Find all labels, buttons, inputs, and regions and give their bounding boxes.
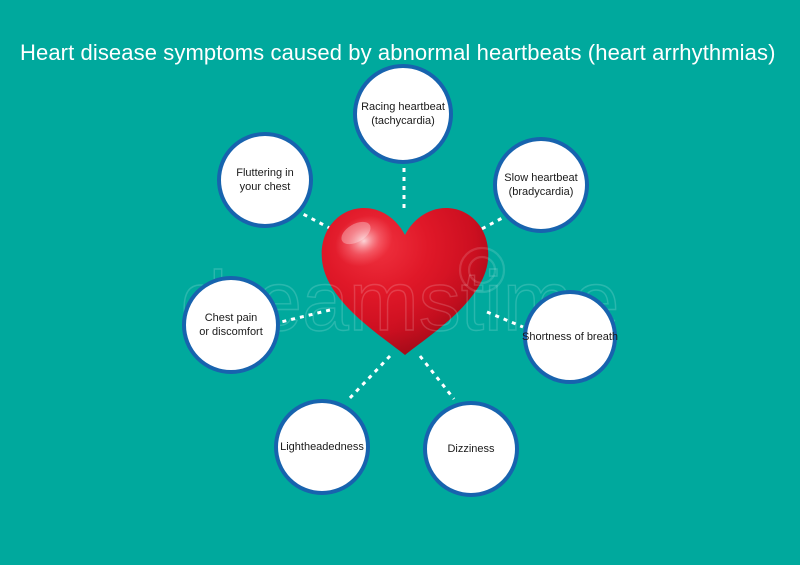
symptom-label-shortness-of-breath: Shortness of breath (522, 330, 618, 344)
symptom-node-racing-heartbeat[interactable]: Racing heartbeat (tachycardia) (353, 64, 453, 164)
symptom-label-lightheadedness: Lightheadedness (280, 440, 364, 454)
symptom-label-chest-pain: Chest pain or discomfort (195, 311, 267, 339)
symptom-node-fluttering-in-chest[interactable]: Fluttering in your chest (217, 132, 313, 228)
symptom-node-slow-heartbeat[interactable]: Slow heartbeat (bradycardia) (493, 137, 589, 233)
symptom-node-lightheadedness[interactable]: Lightheadedness (274, 399, 370, 495)
symptom-node-chest-pain[interactable]: Chest pain or discomfort (182, 276, 280, 374)
infographic-canvas: Heart disease symptoms caused by abnorma… (0, 0, 800, 565)
symptom-label-racing-heartbeat: Racing heartbeat (tachycardia) (357, 100, 449, 128)
symptom-node-dizziness[interactable]: Dizziness (423, 401, 519, 497)
connector-shortness-of-breath (487, 312, 523, 327)
symptom-label-slow-heartbeat: Slow heartbeat (bradycardia) (500, 171, 581, 199)
symptom-node-shortness-of-breath[interactable]: Shortness of breath (523, 290, 617, 384)
connector-lightheadedness (348, 356, 390, 400)
connector-dizziness (420, 356, 454, 399)
symptom-label-fluttering-in-chest: Fluttering in your chest (232, 166, 297, 194)
heart-icon (318, 203, 492, 359)
symptom-label-dizziness: Dizziness (443, 442, 498, 456)
